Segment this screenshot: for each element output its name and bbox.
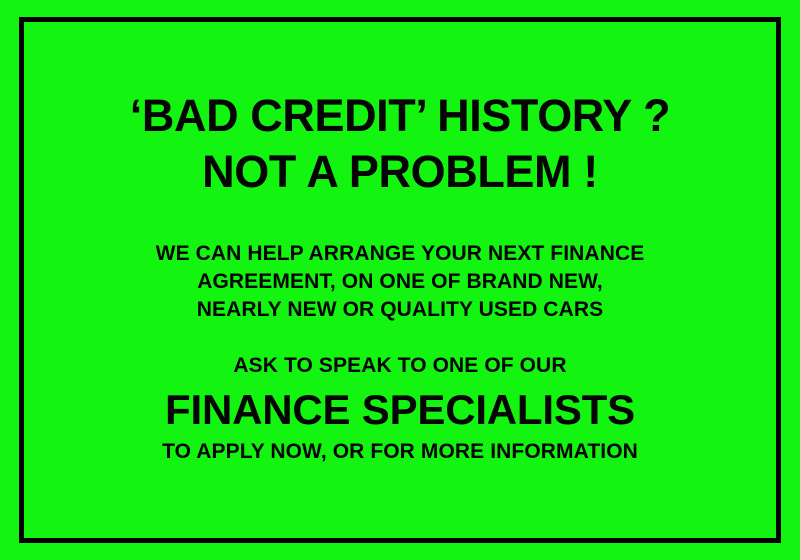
headline-line-bad-credit-history: ‘BAD CREDIT’ HISTORY ? (24, 88, 776, 144)
cta-line-ask-to-speak: ASK TO SPEAK TO ONE OF OUR (24, 352, 776, 380)
cta-emphasis-finance-specialists: FINANCE SPECIALISTS (24, 384, 776, 436)
body-paragraph-finance-offer: WE CAN HELP ARRANGE YOUR NEXT FINANCE AG… (24, 240, 776, 324)
finance-advert-poster: ‘BAD CREDIT’ HISTORY ? NOT A PROBLEM ! W… (0, 0, 800, 560)
poster-content: ‘BAD CREDIT’ HISTORY ? NOT A PROBLEM ! W… (24, 22, 776, 538)
call-to-action-block: ASK TO SPEAK TO ONE OF OUR FINANCE SPECI… (24, 352, 776, 466)
body-line-agreement-brand-new: AGREEMENT, ON ONE OF BRAND NEW, (24, 268, 776, 296)
body-line-we-can-help-arrange: WE CAN HELP ARRANGE YOUR NEXT FINANCE (24, 240, 776, 268)
headline-line-not-a-problem: NOT A PROBLEM ! (24, 144, 776, 200)
cta-line-apply-now-more-information: TO APPLY NOW, OR FOR MORE INFORMATION (24, 438, 776, 466)
headline-block: ‘BAD CREDIT’ HISTORY ? NOT A PROBLEM ! (24, 88, 776, 200)
body-line-nearly-new-used-cars: NEARLY NEW OR QUALITY USED CARS (24, 296, 776, 324)
